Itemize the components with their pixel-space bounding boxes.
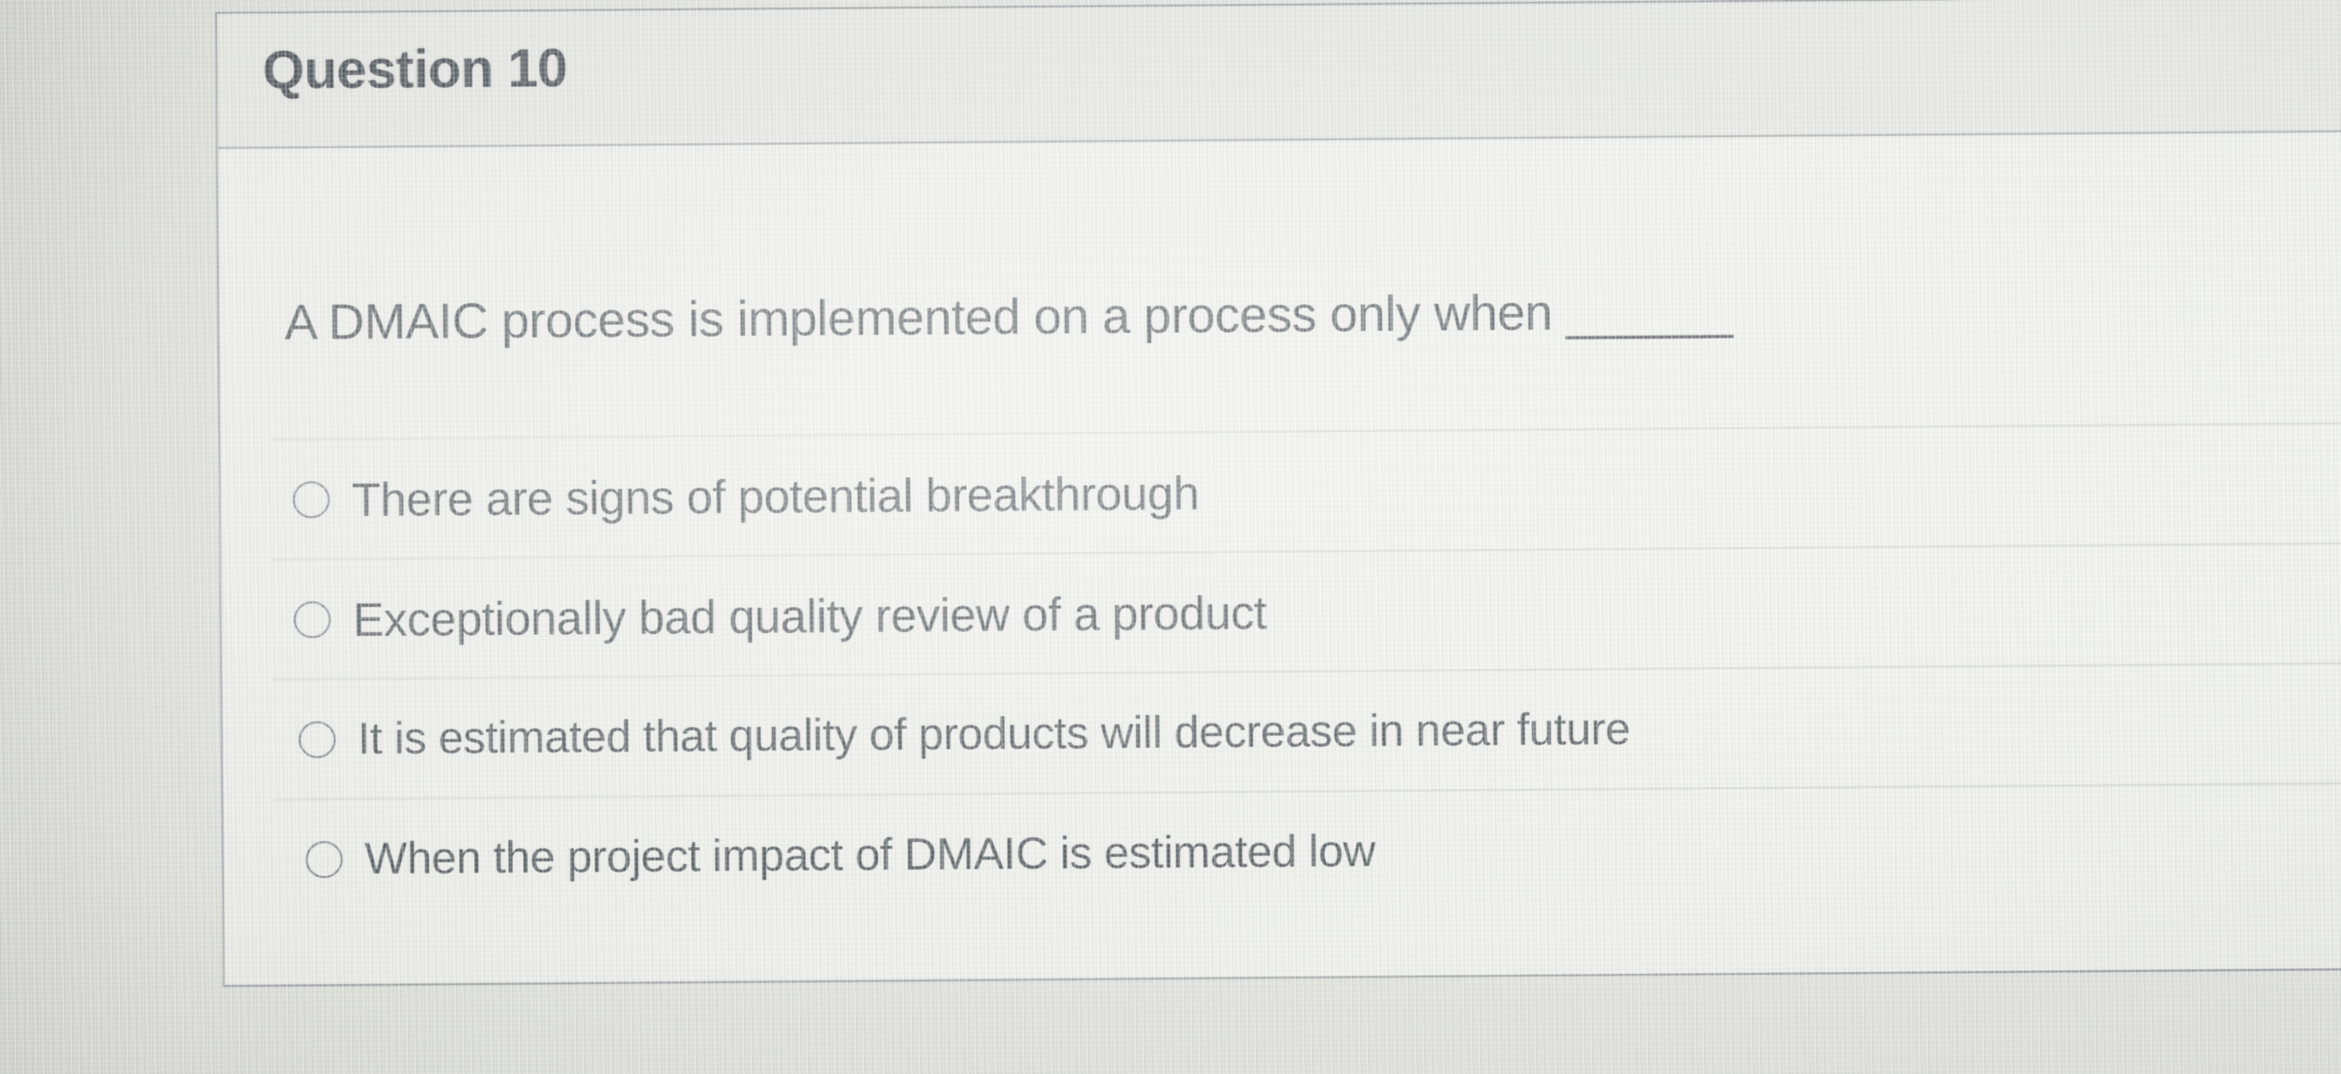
question-stem-text: A DMAIC process is implemented on a proc… [284,285,1552,351]
screen-photo: Question 10 A DMAIC process is implement… [0,0,2341,1074]
answer-option-label: There are signs of potential breakthroug… [352,465,1200,527]
question-stem-blank: ______ [1566,283,1733,340]
answer-option-3[interactable]: It is estimated that quality of products… [272,662,2341,798]
radio-unselected-icon[interactable] [306,841,343,878]
answer-option-1[interactable]: There are signs of potential breakthroug… [270,422,2341,558]
radio-unselected-icon[interactable] [299,721,336,758]
radio-unselected-icon[interactable] [293,481,330,518]
question-stem: A DMAIC process is implemented on a proc… [284,282,1733,351]
answer-option-4[interactable]: When the project impact of DMAIC is esti… [273,782,2341,918]
question-card-header: Question 10 [217,0,2341,149]
radio-unselected-icon[interactable] [294,601,331,638]
page-title: Question 10 [262,37,567,101]
answer-option-2[interactable]: Exceptionally bad quality review of a pr… [271,542,2341,678]
answer-options-list: There are signs of potential breakthroug… [270,422,2341,918]
answer-option-label: When the project impact of DMAIC is esti… [364,825,1375,885]
question-card: Question 10 A DMAIC process is implement… [215,0,2341,987]
answer-option-label: Exceptionally bad quality review of a pr… [353,584,1267,646]
answer-option-label: It is estimated that quality of products… [358,703,1631,765]
